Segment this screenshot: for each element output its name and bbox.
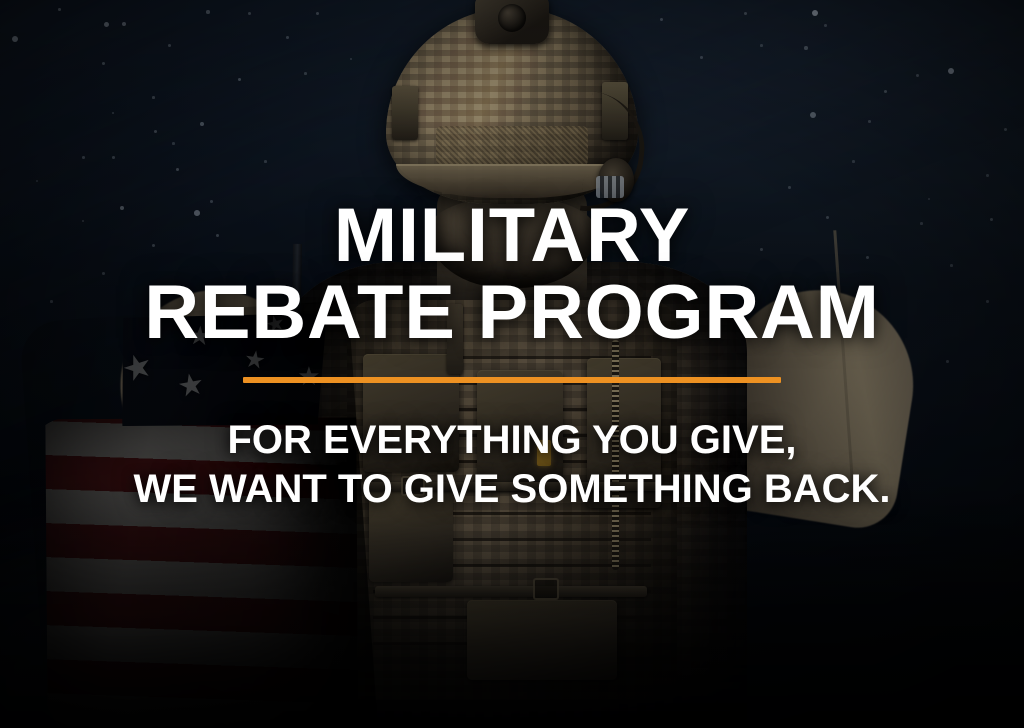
banner-copy: MILITARY REBATE PROGRAM FOR EVERYTHING Y… xyxy=(0,0,1024,728)
military-rebate-banner: ★★★★★★ MILITARY REBATE PROGRAM FOR EVERY… xyxy=(0,0,1024,728)
accent-divider-rule xyxy=(243,377,781,383)
subhead-line-2: WE WANT TO GIVE SOMETHING BACK. xyxy=(133,466,890,513)
subhead-line-1: FOR EVERYTHING YOU GIVE, xyxy=(228,417,797,464)
headline-line-1: MILITARY xyxy=(334,200,690,271)
headline-line-2: REBATE PROGRAM xyxy=(144,277,879,348)
